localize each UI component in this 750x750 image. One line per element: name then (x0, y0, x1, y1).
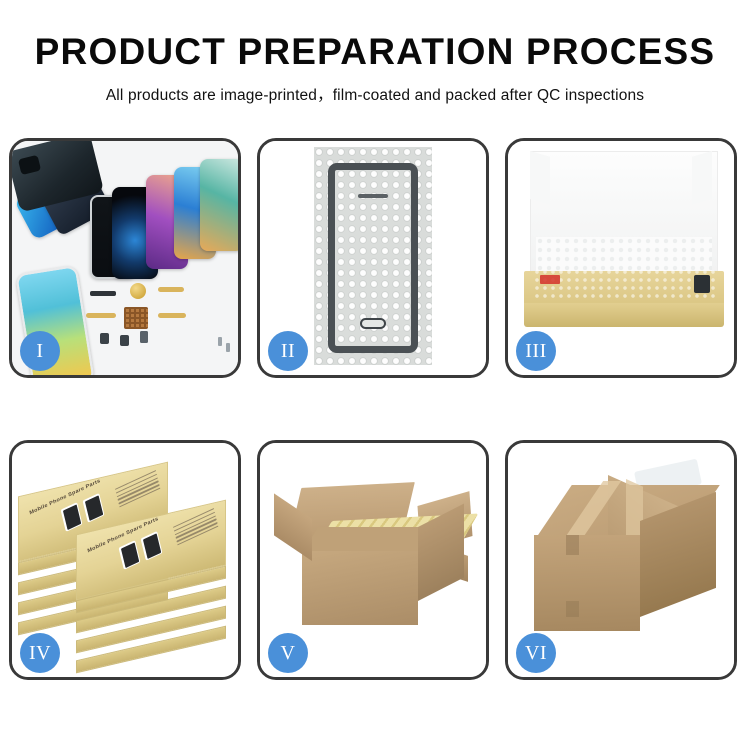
page-subtitle: All products are image-printed，film-coat… (0, 83, 750, 105)
bubble-wrap-sheet (314, 147, 432, 365)
part-battery (140, 331, 148, 343)
process-step-2: II (257, 138, 489, 378)
product-preparation-infographic: PRODUCT PREPARATION PROCESS All products… (0, 0, 750, 750)
part-screw-2 (226, 343, 230, 352)
process-step-4: Mobile Phone Spare Parts Mobile Phone Sp… (9, 440, 241, 680)
step-badge-2: II (268, 331, 308, 371)
box-lid-right-flap (692, 151, 712, 205)
carton-top-edge (302, 527, 434, 553)
teal-swirl-screen (200, 159, 238, 251)
part-screw-1 (218, 337, 222, 346)
part-flex-cable-3 (158, 313, 186, 318)
carton-seam-upper (566, 535, 579, 555)
box-spec-lines-front (173, 508, 219, 548)
screen-outline (328, 163, 418, 353)
part-connector-2 (120, 335, 129, 346)
carton-front-panel (302, 551, 418, 625)
step-badge-6: VI (516, 633, 556, 673)
process-steps-grid: I II (9, 138, 741, 680)
part-speaker-coil (130, 283, 146, 299)
box-phone-image-1 (61, 502, 83, 532)
part-flex-cable-2 (86, 313, 116, 318)
box-label-sticker (540, 275, 560, 284)
box-phone-image-4 (141, 531, 163, 561)
process-step-1: I (9, 138, 241, 378)
step-badge-3: III (516, 331, 556, 371)
header: PRODUCT PREPARATION PROCESS All products… (0, 0, 750, 105)
part-chip-grid (124, 307, 148, 329)
home-button (360, 318, 386, 329)
step-badge-1: I (20, 331, 60, 371)
box-spec-lines-rear (115, 470, 161, 510)
part-connector-1 (100, 333, 109, 344)
step-badge-5: V (268, 633, 308, 673)
earpiece-slot (358, 194, 388, 198)
kraft-box-front (524, 303, 724, 327)
sealed-carton-front (534, 535, 640, 631)
wrapped-screen-in-box (534, 269, 716, 299)
part-flex-cable-1 (158, 287, 184, 292)
process-step-3: III (505, 138, 737, 378)
box-lid-left-flap (530, 151, 550, 205)
page-title: PRODUCT PREPARATION PROCESS (0, 30, 750, 74)
box-phone-image-2 (83, 493, 105, 523)
step-badge-4: IV (20, 633, 60, 673)
process-step-5: V (257, 440, 489, 680)
carton-seam-lower (566, 601, 579, 617)
part-speaker-bar (90, 291, 116, 296)
box-stack: Mobile Phone Spare Parts Mobile Phone Sp… (18, 457, 236, 663)
box-phone-image-3 (119, 540, 141, 570)
process-step-6: VI (505, 440, 737, 680)
